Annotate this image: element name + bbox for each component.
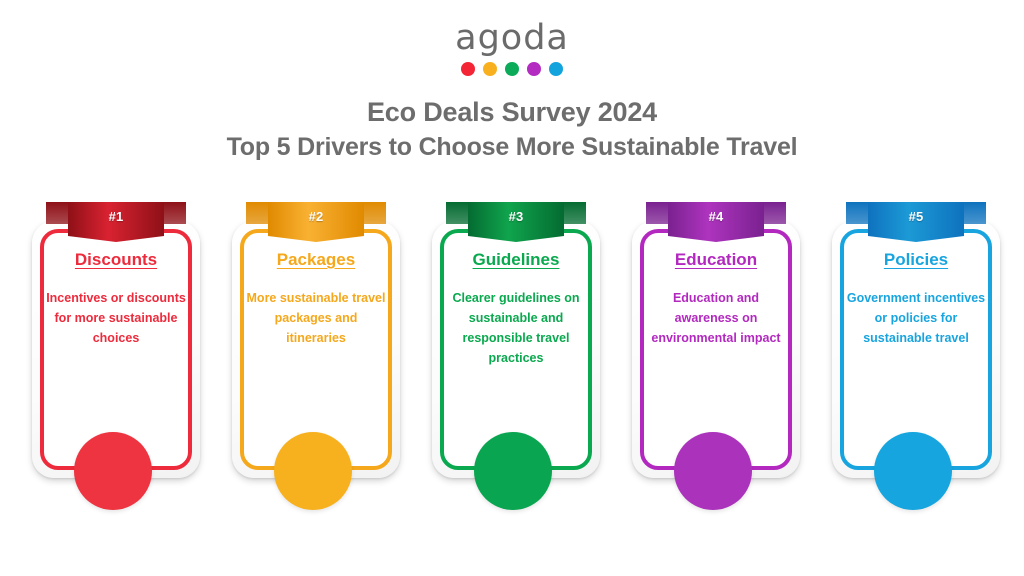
card-accent-circle xyxy=(874,432,952,510)
driver-card-row: #1DiscountsIncentives or discounts for m… xyxy=(0,200,1024,530)
driver-card-3[interactable]: #3GuidelinesClearer guidelines on sustai… xyxy=(428,200,604,520)
card-heading: Policies xyxy=(840,250,992,270)
brand-dot-row xyxy=(0,62,1024,76)
rank-label: #2 xyxy=(246,209,386,224)
rank-label: #4 xyxy=(646,209,786,224)
page-subtitle: Top 5 Drivers to Choose More Sustainable… xyxy=(0,131,1024,163)
card-accent-circle xyxy=(674,432,752,510)
brand-dot-3 xyxy=(505,62,519,76)
card-body-text: More sustainable travel packages and iti… xyxy=(244,288,388,348)
brand-dot-1 xyxy=(461,62,475,76)
card-body-text: Education and awareness on environmental… xyxy=(644,288,788,348)
infographic-page: { "brand": { "logo_text": "agoda", "logo… xyxy=(0,0,1024,576)
brand-logo: agoda xyxy=(0,18,1024,76)
brand-dot-5 xyxy=(549,62,563,76)
driver-card-5[interactable]: #5PoliciesGovernment incentives or polic… xyxy=(828,200,1004,520)
card-body-text: Government incentives or policies for su… xyxy=(844,288,988,348)
brand-dot-4 xyxy=(527,62,541,76)
page-title: Eco Deals Survey 2024 xyxy=(0,96,1024,129)
card-body-text: Clearer guidelines on sustainable and re… xyxy=(444,288,588,368)
rank-ribbon: #1 xyxy=(46,200,186,244)
card-heading: Packages xyxy=(240,250,392,270)
rank-ribbon: #3 xyxy=(446,200,586,244)
card-body-text: Incentives or discounts for more sustain… xyxy=(44,288,188,348)
driver-card-2[interactable]: #2PackagesMore sustainable travel packag… xyxy=(228,200,404,520)
rank-ribbon: #4 xyxy=(646,200,786,244)
card-accent-circle xyxy=(74,432,152,510)
driver-card-4[interactable]: #4EducationEducation and awareness on en… xyxy=(628,200,804,520)
driver-card-1[interactable]: #1DiscountsIncentives or discounts for m… xyxy=(28,200,204,520)
card-accent-circle xyxy=(474,432,552,510)
brand-wordmark: agoda xyxy=(0,18,1024,58)
rank-label: #3 xyxy=(446,209,586,224)
rank-ribbon: #5 xyxy=(846,200,986,244)
card-heading: Guidelines xyxy=(440,250,592,270)
card-heading: Discounts xyxy=(40,250,192,270)
rank-label: #1 xyxy=(46,209,186,224)
brand-dot-2 xyxy=(483,62,497,76)
card-accent-circle xyxy=(274,432,352,510)
rank-label: #5 xyxy=(846,209,986,224)
title-block: Eco Deals Survey 2024 Top 5 Drivers to C… xyxy=(0,96,1024,163)
card-heading: Education xyxy=(640,250,792,270)
rank-ribbon: #2 xyxy=(246,200,386,244)
